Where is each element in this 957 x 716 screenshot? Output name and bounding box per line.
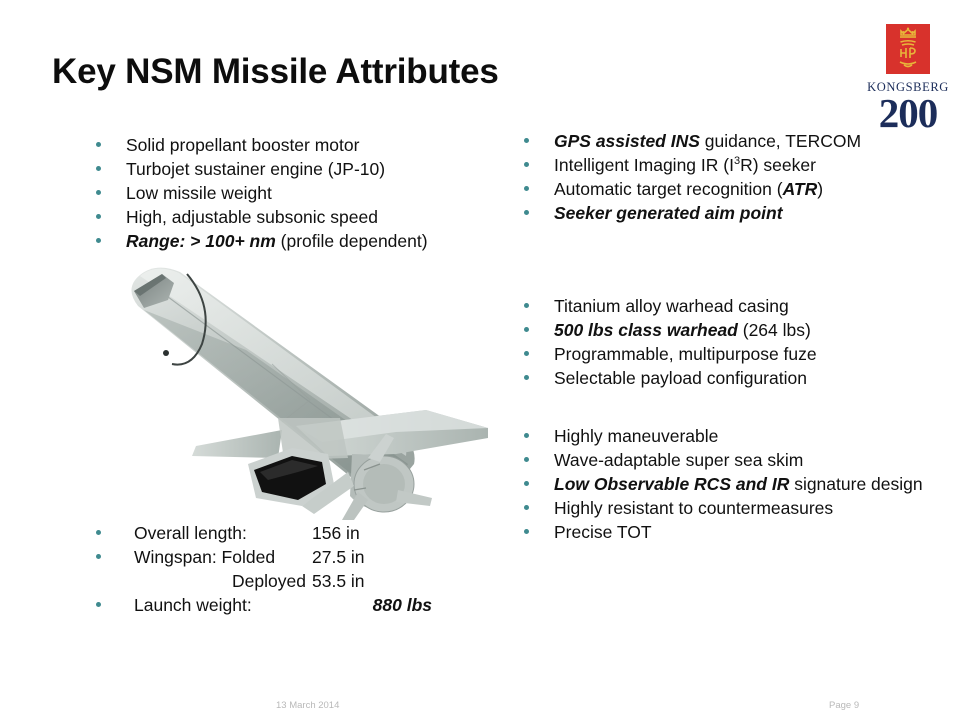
bullet-dot-icon (524, 294, 554, 308)
bullet-dot-icon (524, 424, 554, 438)
bullet-dot-icon (524, 366, 554, 380)
list-item: Precise TOT (524, 520, 934, 544)
list-item: Programmable, multipurpose fuze (524, 342, 924, 366)
slide-canvas: Key NSM Missile Attributes (0, 0, 957, 716)
list-item-emphasis: ATR (783, 179, 818, 199)
list-item-text: Automatic target recognition (ATR) (554, 177, 924, 201)
dimension-value: 53.5 in (312, 569, 456, 593)
list-item-remainder: signature design (789, 474, 922, 494)
list-item-text: GPS assisted INS guidance, TERCOM (554, 129, 924, 153)
list-item-emphasis: Seeker generated aim point (554, 203, 783, 223)
bullet-dot-icon (524, 318, 554, 332)
list-item: Range: > 100+ nm (profile dependent) (96, 229, 496, 253)
dimension-label: Deployed (134, 569, 312, 593)
list-item: Selectable payload configuration (524, 366, 924, 390)
list-item-emphasis: 500 lbs class warhead (554, 320, 738, 340)
bullet-dot-icon (524, 201, 554, 215)
bullet-dot-icon (524, 472, 554, 486)
dimension-label: Launch weight: (134, 593, 312, 617)
table-row: Overall length: 156 in (96, 521, 456, 545)
table-row: Launch weight: 880 lbs (96, 593, 456, 617)
nsm-missile-render (96, 258, 506, 520)
list-item-text: Low Observable RCS and IR signature desi… (554, 472, 934, 496)
bullet-dot-icon (524, 448, 554, 462)
bullet-list-warhead: Titanium alloy warhead casing 500 lbs cl… (524, 294, 924, 390)
list-item-remainder: (264 lbs) (738, 320, 811, 340)
bullet-dot-icon (96, 205, 126, 219)
bullet-dot-icon (524, 153, 554, 167)
bullet-dot-icon (524, 177, 554, 191)
bullet-dot-icon (96, 229, 126, 243)
bullet-dot-icon (96, 521, 134, 535)
bullet-list-signature: Highly maneuverable Wave-adaptable super… (524, 424, 934, 544)
bullet-list-guidance: GPS assisted INS guidance, TERCOM Intell… (524, 129, 924, 225)
list-item: Turbojet sustainer engine (JP-10) (96, 157, 496, 181)
dimension-value: 880 lbs (312, 593, 456, 617)
list-item-emphasis: Range: > 100+ nm (126, 231, 276, 251)
list-item: High, adjustable subsonic speed (96, 205, 496, 229)
list-item: GPS assisted INS guidance, TERCOM (524, 129, 924, 153)
list-item-text: Highly resistant to countermeasures (554, 496, 934, 520)
bullet-dot-icon (96, 157, 126, 171)
list-item: Solid propellant booster motor (96, 133, 496, 157)
list-item-emphasis: GPS assisted INS (554, 131, 700, 151)
kongsberg-crown-monogram-icon (886, 24, 930, 74)
list-item-text: Precise TOT (554, 520, 934, 544)
list-item-text: Intelligent Imaging IR (I3R) seeker (554, 153, 924, 177)
list-item-text: High, adjustable subsonic speed (126, 205, 496, 229)
list-item-text: Seeker generated aim point (554, 201, 924, 225)
list-item: Automatic target recognition (ATR) (524, 177, 924, 201)
missile-main-wing-left (192, 430, 282, 458)
bullet-dot-icon (524, 520, 554, 534)
list-item-text: Wave-adaptable super sea skim (554, 448, 934, 472)
list-item: Highly maneuverable (524, 424, 934, 448)
kongsberg-logo: KONGSBERG 200 (866, 24, 950, 132)
list-item-text: Highly maneuverable (554, 424, 934, 448)
dimension-label: Wingspan: Folded (134, 545, 312, 569)
dimension-value: 27.5 in (312, 545, 456, 569)
list-item: Low Observable RCS and IR signature desi… (524, 472, 934, 496)
bullet-dot-icon (96, 593, 134, 607)
kongsberg-anniversary-200: 200 (866, 92, 950, 134)
bullet-dot-icon (96, 133, 126, 147)
list-item: Titanium alloy warhead casing (524, 294, 924, 318)
list-item-text: Low missile weight (126, 181, 496, 205)
dimension-value: 156 in (312, 521, 456, 545)
list-item-emphasis: Low Observable RCS and IR (554, 474, 789, 494)
list-item-text: Programmable, multipurpose fuze (554, 342, 924, 366)
footer-page-number: Page 9 (829, 700, 859, 711)
list-item-text: Turbojet sustainer engine (JP-10) (126, 157, 496, 181)
list-item: Highly resistant to countermeasures (524, 496, 934, 520)
list-item-text: 500 lbs class warhead (264 lbs) (554, 318, 924, 342)
table-row: Deployed 53.5 in (96, 569, 456, 593)
table-row: Wingspan: Folded 27.5 in (96, 545, 456, 569)
bullet-dot-icon (524, 129, 554, 143)
list-item-text: Selectable payload configuration (554, 366, 924, 390)
superscript-3: 3 (734, 155, 740, 167)
list-item: Low missile weight (96, 181, 496, 205)
bullet-list-propulsion: Solid propellant booster motor Turbojet … (96, 133, 496, 253)
list-item-text: Titanium alloy warhead casing (554, 294, 924, 318)
list-item: Wave-adaptable super sea skim (524, 448, 934, 472)
page-title: Key NSM Missile Attributes (52, 52, 499, 92)
list-item: Seeker generated aim point (524, 201, 924, 225)
bullet-dot-icon (524, 342, 554, 356)
list-item-text: Solid propellant booster motor (126, 133, 496, 157)
dimensions-table: Overall length: 156 in Wingspan: Folded … (96, 521, 456, 617)
list-item-text: Range: > 100+ nm (profile dependent) (126, 229, 496, 253)
kongsberg-crest-icon (886, 24, 930, 74)
nose-sensor-port (163, 350, 169, 356)
bullet-dot-placeholder (96, 569, 134, 583)
bullet-dot-icon (96, 181, 126, 195)
bullet-dot-icon (96, 545, 134, 559)
bullet-dot-icon (524, 496, 554, 510)
dimension-label: Overall length: (134, 521, 312, 545)
list-item: Intelligent Imaging IR (I3R) seeker (524, 153, 924, 177)
list-item-remainder: (profile dependent) (276, 231, 428, 251)
list-item: 500 lbs class warhead (264 lbs) (524, 318, 924, 342)
footer-date: 13 March 2014 (276, 700, 339, 711)
list-item-remainder: guidance, TERCOM (700, 131, 861, 151)
